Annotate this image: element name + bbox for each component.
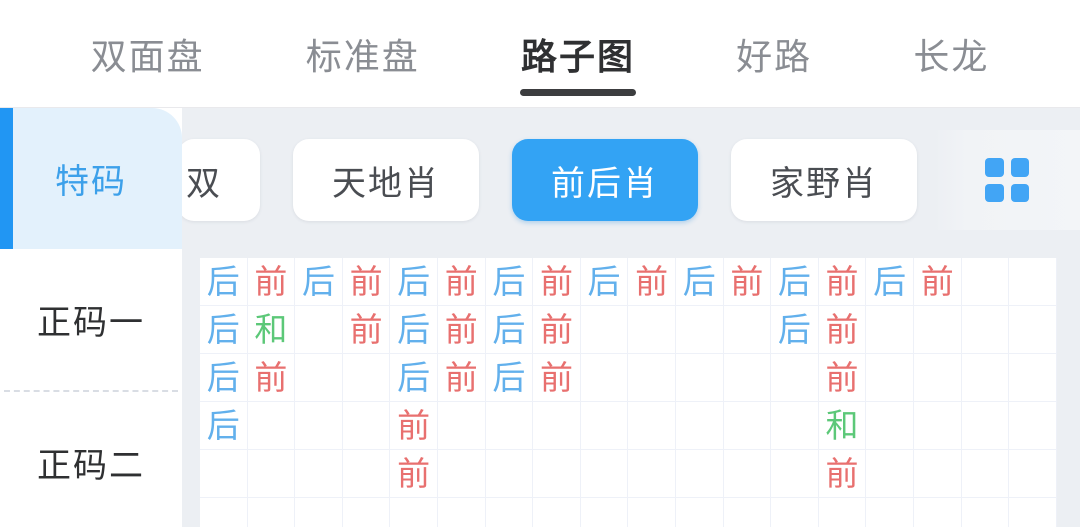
road-cell-hou: 后 xyxy=(581,258,629,306)
chip-label: 天地肖 xyxy=(332,156,440,205)
road-cell-qian: 前 xyxy=(438,258,486,306)
tab-label: 双面盘 xyxy=(91,28,205,80)
road-cell-empty xyxy=(819,498,867,527)
road-cell-empty xyxy=(676,498,724,527)
road-cell-he: 和 xyxy=(819,402,867,450)
sidebar: 特码 正码一 正码二 xyxy=(0,108,182,527)
content-area: 特码 正码一 正码二 双 天地肖 前 xyxy=(0,108,1080,527)
chip-label: 家野肖 xyxy=(770,156,878,205)
road-cell-hou: 后 xyxy=(486,258,534,306)
road-cell-empty xyxy=(866,354,914,402)
road-cell-empty xyxy=(200,450,248,498)
road-cell-empty xyxy=(628,450,676,498)
road-cell-empty xyxy=(581,498,629,527)
road-cell-empty xyxy=(486,498,534,527)
road-cell-empty xyxy=(295,450,343,498)
road-cell-empty xyxy=(676,402,724,450)
top-tab-bar: 双面盘 标准盘 路子图 好路 长龙 xyxy=(0,0,1080,108)
road-cell-empty xyxy=(295,498,343,527)
road-cell-hou: 后 xyxy=(200,402,248,450)
road-cell-hou: 后 xyxy=(866,258,914,306)
road-cell-qian: 前 xyxy=(819,450,867,498)
road-cell-qian: 前 xyxy=(724,258,772,306)
sidebar-item-tema[interactable]: 特码 xyxy=(0,108,182,249)
road-cell-empty xyxy=(771,450,819,498)
road-cell-hou: 后 xyxy=(676,258,724,306)
chip-label: 前后肖 xyxy=(551,156,659,205)
road-cell-empty xyxy=(248,450,296,498)
road-cell-empty xyxy=(248,498,296,527)
road-cell-empty xyxy=(1009,450,1057,498)
road-cell-empty xyxy=(628,306,676,354)
road-cell-empty xyxy=(866,498,914,527)
road-cell-empty xyxy=(866,402,914,450)
sidebar-item-label: 正码二 xyxy=(37,438,145,487)
road-cell-empty xyxy=(962,498,1010,527)
sidebar-active-indicator xyxy=(0,108,13,249)
road-cell-empty xyxy=(438,402,486,450)
road-cell-empty xyxy=(343,498,391,527)
road-cell-empty xyxy=(248,402,296,450)
road-cell-empty xyxy=(295,354,343,402)
road-cell-hou: 后 xyxy=(200,258,248,306)
road-cell-qian: 前 xyxy=(248,354,296,402)
app-root: 双面盘 标准盘 路子图 好路 长龙 特码 xyxy=(0,0,1080,527)
tab-label: 好路 xyxy=(736,28,812,80)
road-cell-empty xyxy=(724,450,772,498)
road-cell-empty xyxy=(533,450,581,498)
road-cell-qian: 前 xyxy=(343,258,391,306)
road-cell-empty xyxy=(1009,402,1057,450)
road-cell-empty xyxy=(581,402,629,450)
road-cell-empty xyxy=(962,354,1010,402)
road-cell-empty xyxy=(771,498,819,527)
road-cell-empty xyxy=(486,402,534,450)
tab-luzitu[interactable]: 路子图 xyxy=(515,0,641,108)
chip-qianhouxiao[interactable]: 前后肖 xyxy=(512,139,698,221)
road-cell-empty xyxy=(1009,498,1057,527)
road-cell-qian: 前 xyxy=(248,258,296,306)
road-cell-qian: 前 xyxy=(914,258,962,306)
road-cell-qian: 前 xyxy=(819,354,867,402)
road-cell-empty xyxy=(628,402,676,450)
road-cell-empty xyxy=(676,450,724,498)
road-cell-empty xyxy=(724,306,772,354)
road-cell-hou: 后 xyxy=(295,258,343,306)
road-cell-hou: 后 xyxy=(200,306,248,354)
chip-label: 双 xyxy=(186,156,222,205)
tab-label: 长龙 xyxy=(913,28,989,80)
tab-haolu[interactable]: 好路 xyxy=(730,0,818,108)
road-cell-hou: 后 xyxy=(771,258,819,306)
road-cell-empty xyxy=(438,498,486,527)
road-cell-empty xyxy=(914,402,962,450)
road-cell-empty xyxy=(724,402,772,450)
road-cell-empty xyxy=(533,498,581,527)
road-cell-empty xyxy=(581,450,629,498)
road-cell-qian: 前 xyxy=(819,258,867,306)
road-cell-empty xyxy=(343,402,391,450)
road-cell-empty xyxy=(1009,306,1057,354)
road-map-panel[interactable]: 后前后前后前后前后前后前后前后前后和前后前后前后前后前后前后前前后前和前前 xyxy=(200,258,1057,527)
road-cell-empty xyxy=(533,402,581,450)
road-cell-qian: 前 xyxy=(343,306,391,354)
road-cell-qian: 前 xyxy=(438,306,486,354)
tab-biaozhunpan[interactable]: 标准盘 xyxy=(300,0,426,108)
road-cell-empty xyxy=(676,354,724,402)
tab-changlong[interactable]: 长龙 xyxy=(907,0,995,108)
road-cell-qian: 前 xyxy=(819,306,867,354)
road-cell-hou: 后 xyxy=(486,306,534,354)
road-cell-hou: 后 xyxy=(390,306,438,354)
road-cell-empty xyxy=(962,258,1010,306)
road-cell-empty xyxy=(724,498,772,527)
road-cell-empty xyxy=(343,450,391,498)
chip-jiayexiao[interactable]: 家野肖 xyxy=(731,139,917,221)
chip-shuang[interactable]: 双 xyxy=(182,139,260,221)
sidebar-item-zhengma-yi[interactable]: 正码一 xyxy=(0,249,182,390)
road-cell-empty xyxy=(295,402,343,450)
road-cell-empty xyxy=(771,402,819,450)
road-cell-qian: 前 xyxy=(628,258,676,306)
road-cell-hou: 后 xyxy=(200,354,248,402)
road-cell-empty xyxy=(771,354,819,402)
road-cell-empty xyxy=(914,450,962,498)
grid-2x2-icon xyxy=(985,158,1029,202)
road-cell-empty xyxy=(581,354,629,402)
road-cell-empty xyxy=(866,450,914,498)
road-cell-he: 和 xyxy=(248,306,296,354)
road-cell-empty xyxy=(295,306,343,354)
road-cell-empty xyxy=(914,498,962,527)
road-cell-empty xyxy=(628,354,676,402)
tab-shuangmianpan[interactable]: 双面盘 xyxy=(85,0,211,108)
road-cell-empty xyxy=(390,498,438,527)
road-cell-empty xyxy=(1009,258,1057,306)
tab-label: 路子图 xyxy=(521,28,635,80)
road-map-grid: 后前后前后前后前后前后前后前后前后和前后前后前后前后前后前后前前后前和前前 xyxy=(200,258,1057,527)
road-cell-qian: 前 xyxy=(390,402,438,450)
road-cell-empty xyxy=(1009,354,1057,402)
road-cell-empty xyxy=(628,498,676,527)
road-cell-empty xyxy=(962,402,1010,450)
chip-tiandixiao[interactable]: 天地肖 xyxy=(293,139,479,221)
road-cell-empty xyxy=(676,306,724,354)
tab-active-indicator xyxy=(520,89,636,96)
road-cell-qian: 前 xyxy=(533,354,581,402)
road-cell-empty xyxy=(438,450,486,498)
road-cell-empty xyxy=(581,306,629,354)
road-cell-empty xyxy=(343,354,391,402)
road-cell-qian: 前 xyxy=(390,450,438,498)
right-pane: 双 天地肖 前后肖 家野肖 后前后前后前后前后前后前 xyxy=(182,108,1080,527)
road-cell-empty xyxy=(914,306,962,354)
road-cell-empty xyxy=(724,354,772,402)
road-cell-hou: 后 xyxy=(486,354,534,402)
road-cell-hou: 后 xyxy=(771,306,819,354)
road-cell-empty xyxy=(200,498,248,527)
road-cell-qian: 前 xyxy=(438,354,486,402)
road-cell-hou: 后 xyxy=(390,258,438,306)
road-cell-empty xyxy=(486,450,534,498)
road-cell-empty xyxy=(962,450,1010,498)
road-cell-hou: 后 xyxy=(390,354,438,402)
tab-label: 标准盘 xyxy=(306,28,420,80)
road-cell-qian: 前 xyxy=(533,306,581,354)
sidebar-item-zhengma-er[interactable]: 正码二 xyxy=(0,392,182,527)
road-cell-empty xyxy=(866,306,914,354)
road-cell-empty xyxy=(962,306,1010,354)
sidebar-item-label: 特码 xyxy=(55,154,127,203)
sidebar-item-label: 正码一 xyxy=(37,295,145,344)
road-cell-qian: 前 xyxy=(533,258,581,306)
road-cell-empty xyxy=(914,354,962,402)
expand-categories-button[interactable] xyxy=(934,130,1080,230)
